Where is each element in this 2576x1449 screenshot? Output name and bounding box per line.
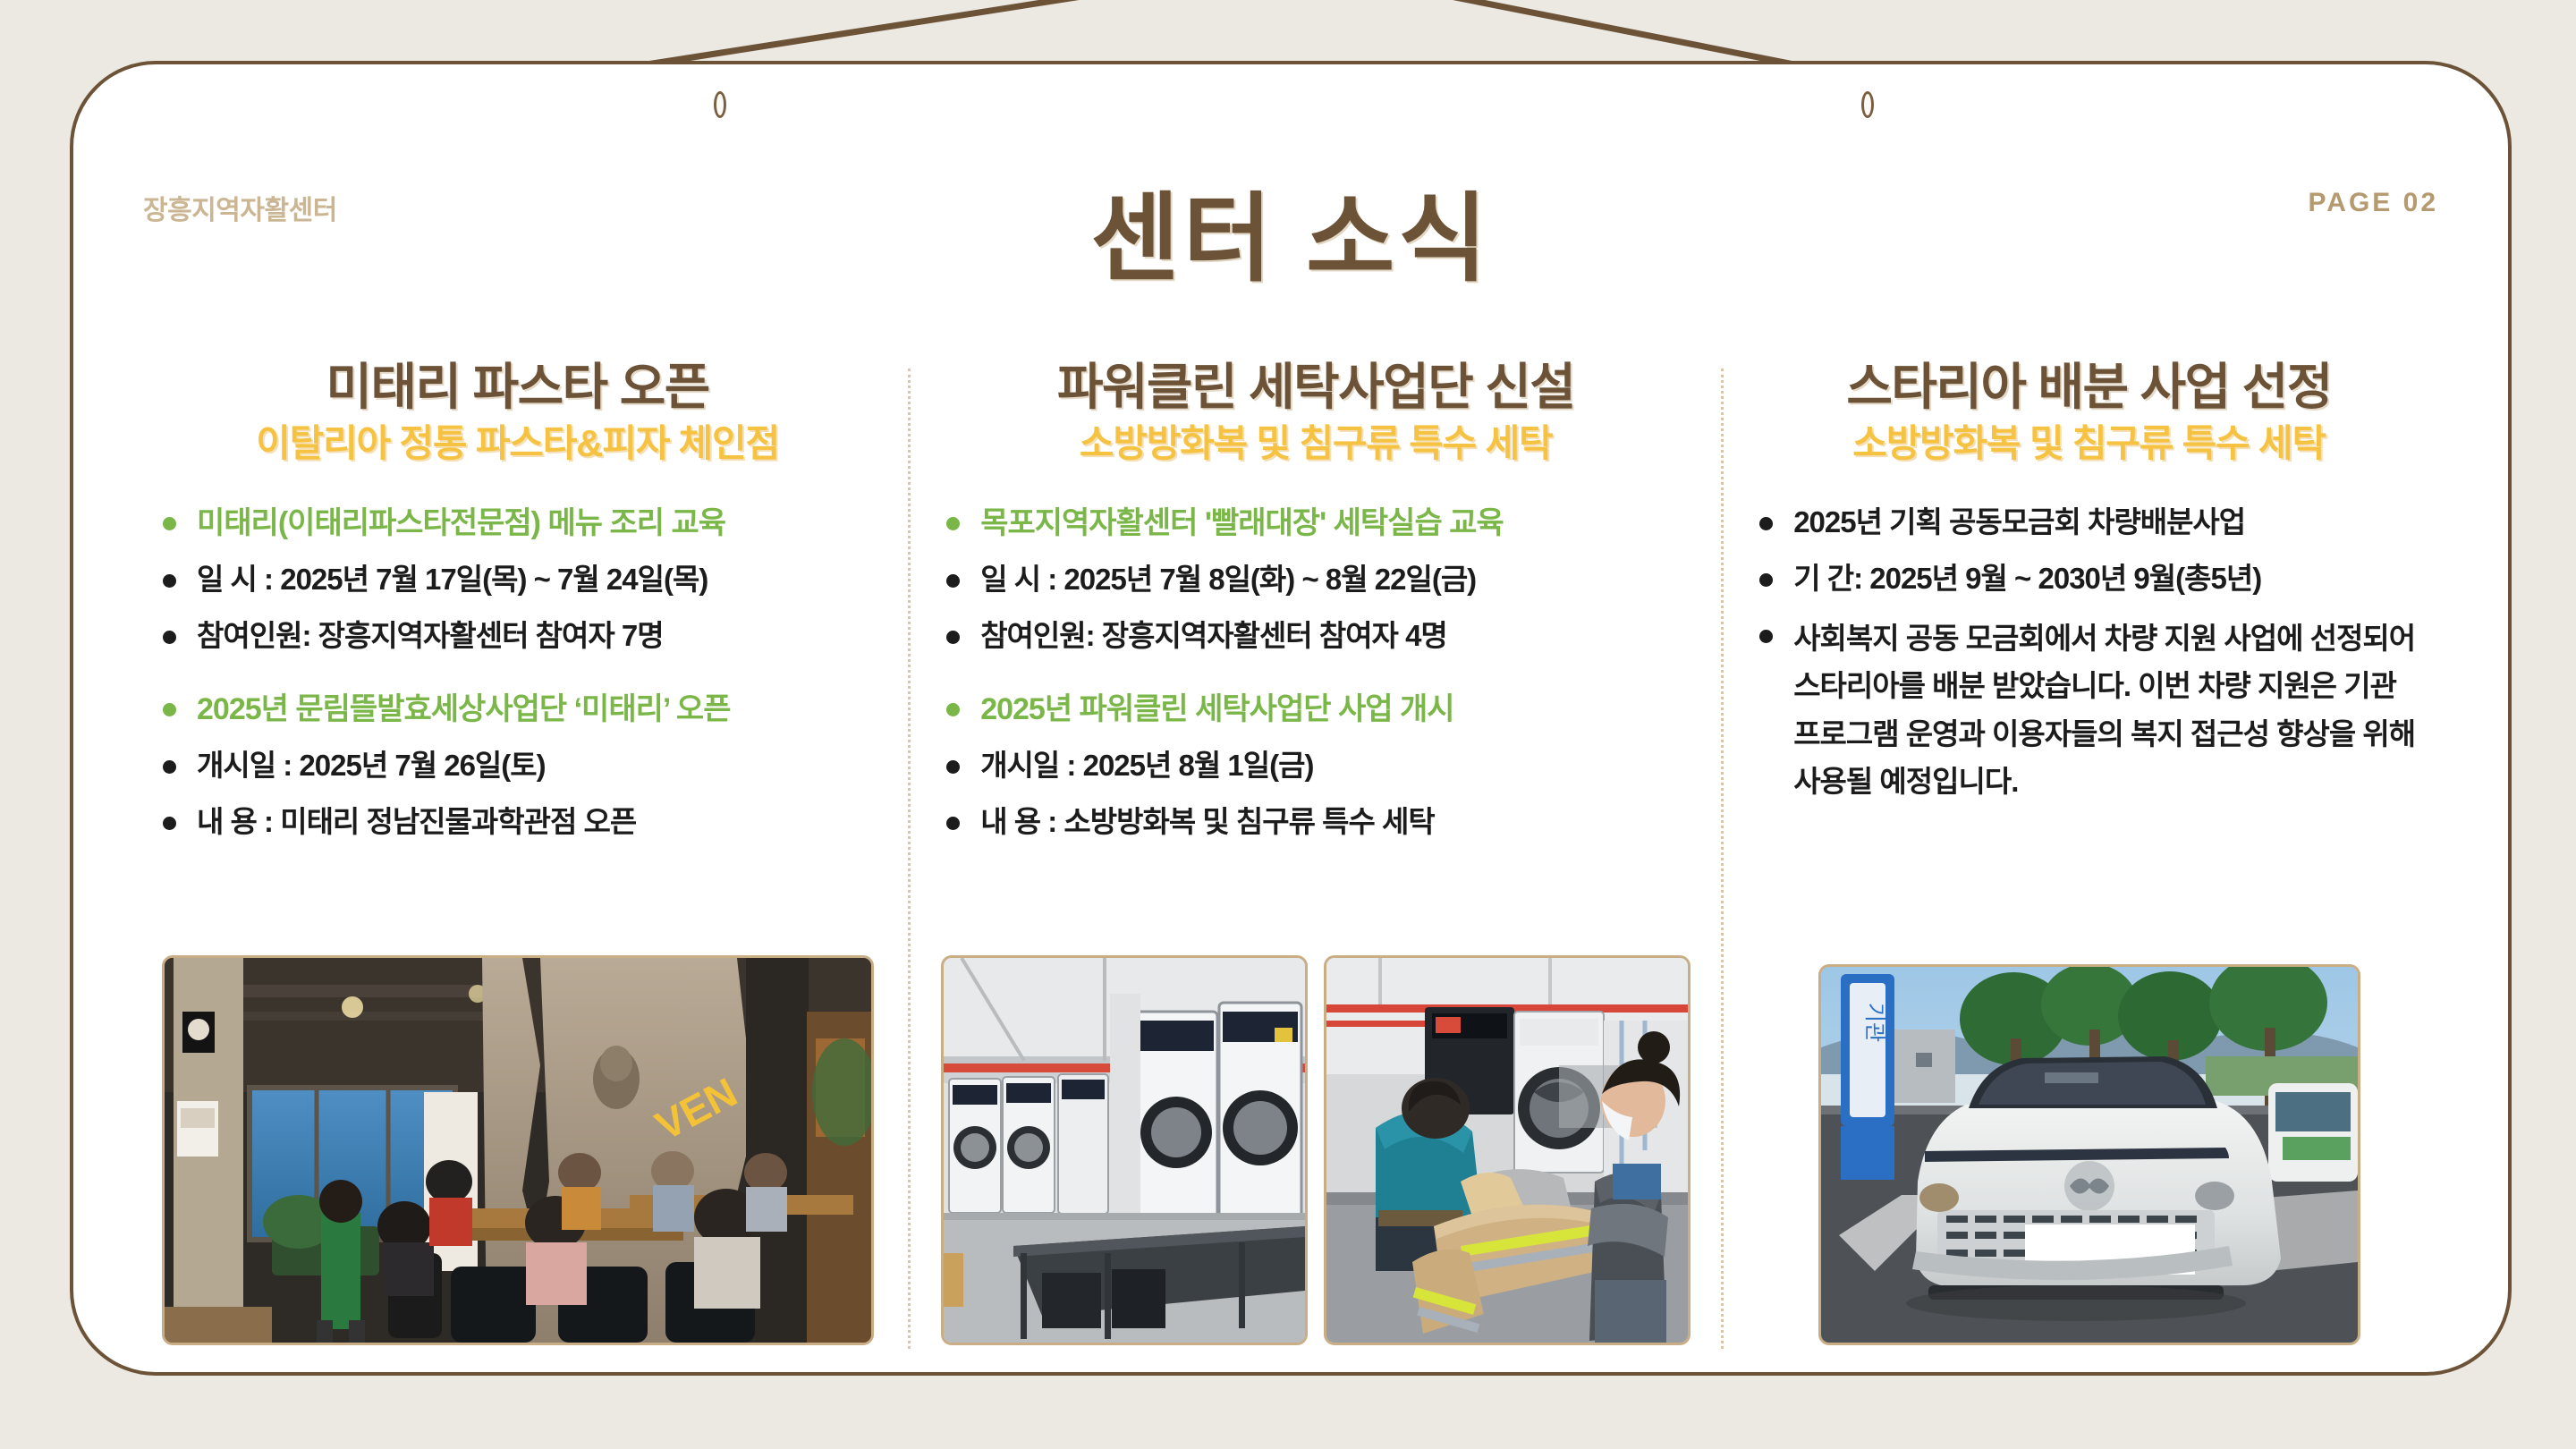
column-2-subtitle: 소방방화복 및 침구류 특수 세탁 (941, 421, 1690, 466)
list-item: 목포지역자활센터 '빨래대장' 세탁실습 교육 (941, 502, 1690, 545)
page-title: 센터 소식 (73, 188, 2508, 289)
list-item: 2025년 기획 공동모금회 차량배분사업 (1754, 502, 2424, 544)
svg-text:기관: 기관 (1862, 1003, 1886, 1042)
list-item: 일 시 : 2025년 7월 8일(화) ~ 8월 22일(금) (941, 559, 1690, 601)
staria-van-photo: 기관 (1818, 964, 2360, 1345)
list-item: 개시일 : 2025년 7월 26일(토) (157, 745, 877, 787)
column-2-photos (941, 955, 1690, 1361)
news-column-3: 스타리아 배분 사업 선정 소방방화복 및 침구류 특수 세탁 2025년 기획… (1724, 360, 2454, 1361)
firefighter-gear-washing-photo (1324, 955, 1690, 1345)
poster-page: 장흥지역자활센터 PAGE 02 센터 소식 미태리 파스타 오픈 이탈리아 정… (0, 0, 2576, 1449)
column-1-photos: VEN (157, 955, 877, 1361)
column-1-bullets: 미태리(이태리파스타전문점) 메뉴 조리 교육 일 시 : 2025년 7월 1… (157, 502, 877, 858)
list-item: 개시일 : 2025년 8월 1일(금) (941, 745, 1690, 787)
column-3-subtitle: 소방방화복 및 침구류 특수 세탁 (1754, 421, 2424, 466)
list-item: 참여인원: 장흥지역자활센터 참여자 7명 (157, 615, 877, 657)
list-item: 2025년 파워클린 세탁사업단 사업 개시 (941, 688, 1690, 731)
laundry-facility-photo (941, 955, 1308, 1345)
list-item: 일 시 : 2025년 7월 17일(목) ~ 7월 24일(목) (157, 559, 877, 601)
list-item: 내 용 : 소방방화복 및 침구류 특수 세탁 (941, 801, 1690, 843)
column-2-bullets: 목포지역자활센터 '빨래대장' 세탁실습 교육 일 시 : 2025년 7월 8… (941, 502, 1690, 858)
grommet-hole-right (1861, 91, 1874, 118)
columns-container: 미태리 파스타 오픈 이탈리아 정통 파스타&피자 체인점 미태리(이태리파스타… (127, 360, 2454, 1361)
grommet-hole-left (714, 91, 726, 118)
news-column-1: 미태리 파스타 오픈 이탈리아 정통 파스타&피자 체인점 미태리(이태리파스타… (127, 360, 908, 1361)
restaurant-interior-photo: VEN (162, 955, 874, 1345)
news-column-2: 파워클린 세탁사업단 신설 소방방화복 및 침구류 특수 세탁 목포지역자활센터… (911, 360, 1721, 1361)
list-item: 사회복지 공동 모금회에서 차량 지원 사업에 선정되어 스타리아를 배분 받았… (1754, 614, 2424, 806)
list-item: 기 간: 2025년 9월 ~ 2030년 9월(총5년) (1754, 558, 2424, 600)
list-item: 참여인원: 장흥지역자활센터 참여자 4명 (941, 615, 1690, 657)
column-3-photos: 기관 (1754, 964, 2424, 1361)
list-item: 2025년 문림뜰발효세상사업단 ‘미태리’ 오픈 (157, 688, 877, 731)
column-2-title: 파워클린 세탁사업단 신설 (941, 360, 1690, 416)
column-3-bullets: 2025년 기획 공동모금회 차량배분사업 기 간: 2025년 9월 ~ 20… (1754, 502, 2424, 806)
news-card: 장흥지역자활센터 PAGE 02 센터 소식 미태리 파스타 오픈 이탈리아 정… (70, 61, 2512, 1376)
column-1-subtitle: 이탈리아 정통 파스타&피자 체인점 (157, 421, 877, 466)
column-3-title: 스타리아 배분 사업 선정 (1754, 360, 2424, 416)
list-item: 미태리(이태리파스타전문점) 메뉴 조리 교육 (157, 502, 877, 545)
column-1-title: 미태리 파스타 오픈 (157, 360, 877, 416)
list-item: 내 용 : 미태리 정남진물과학관점 오픈 (157, 801, 877, 843)
